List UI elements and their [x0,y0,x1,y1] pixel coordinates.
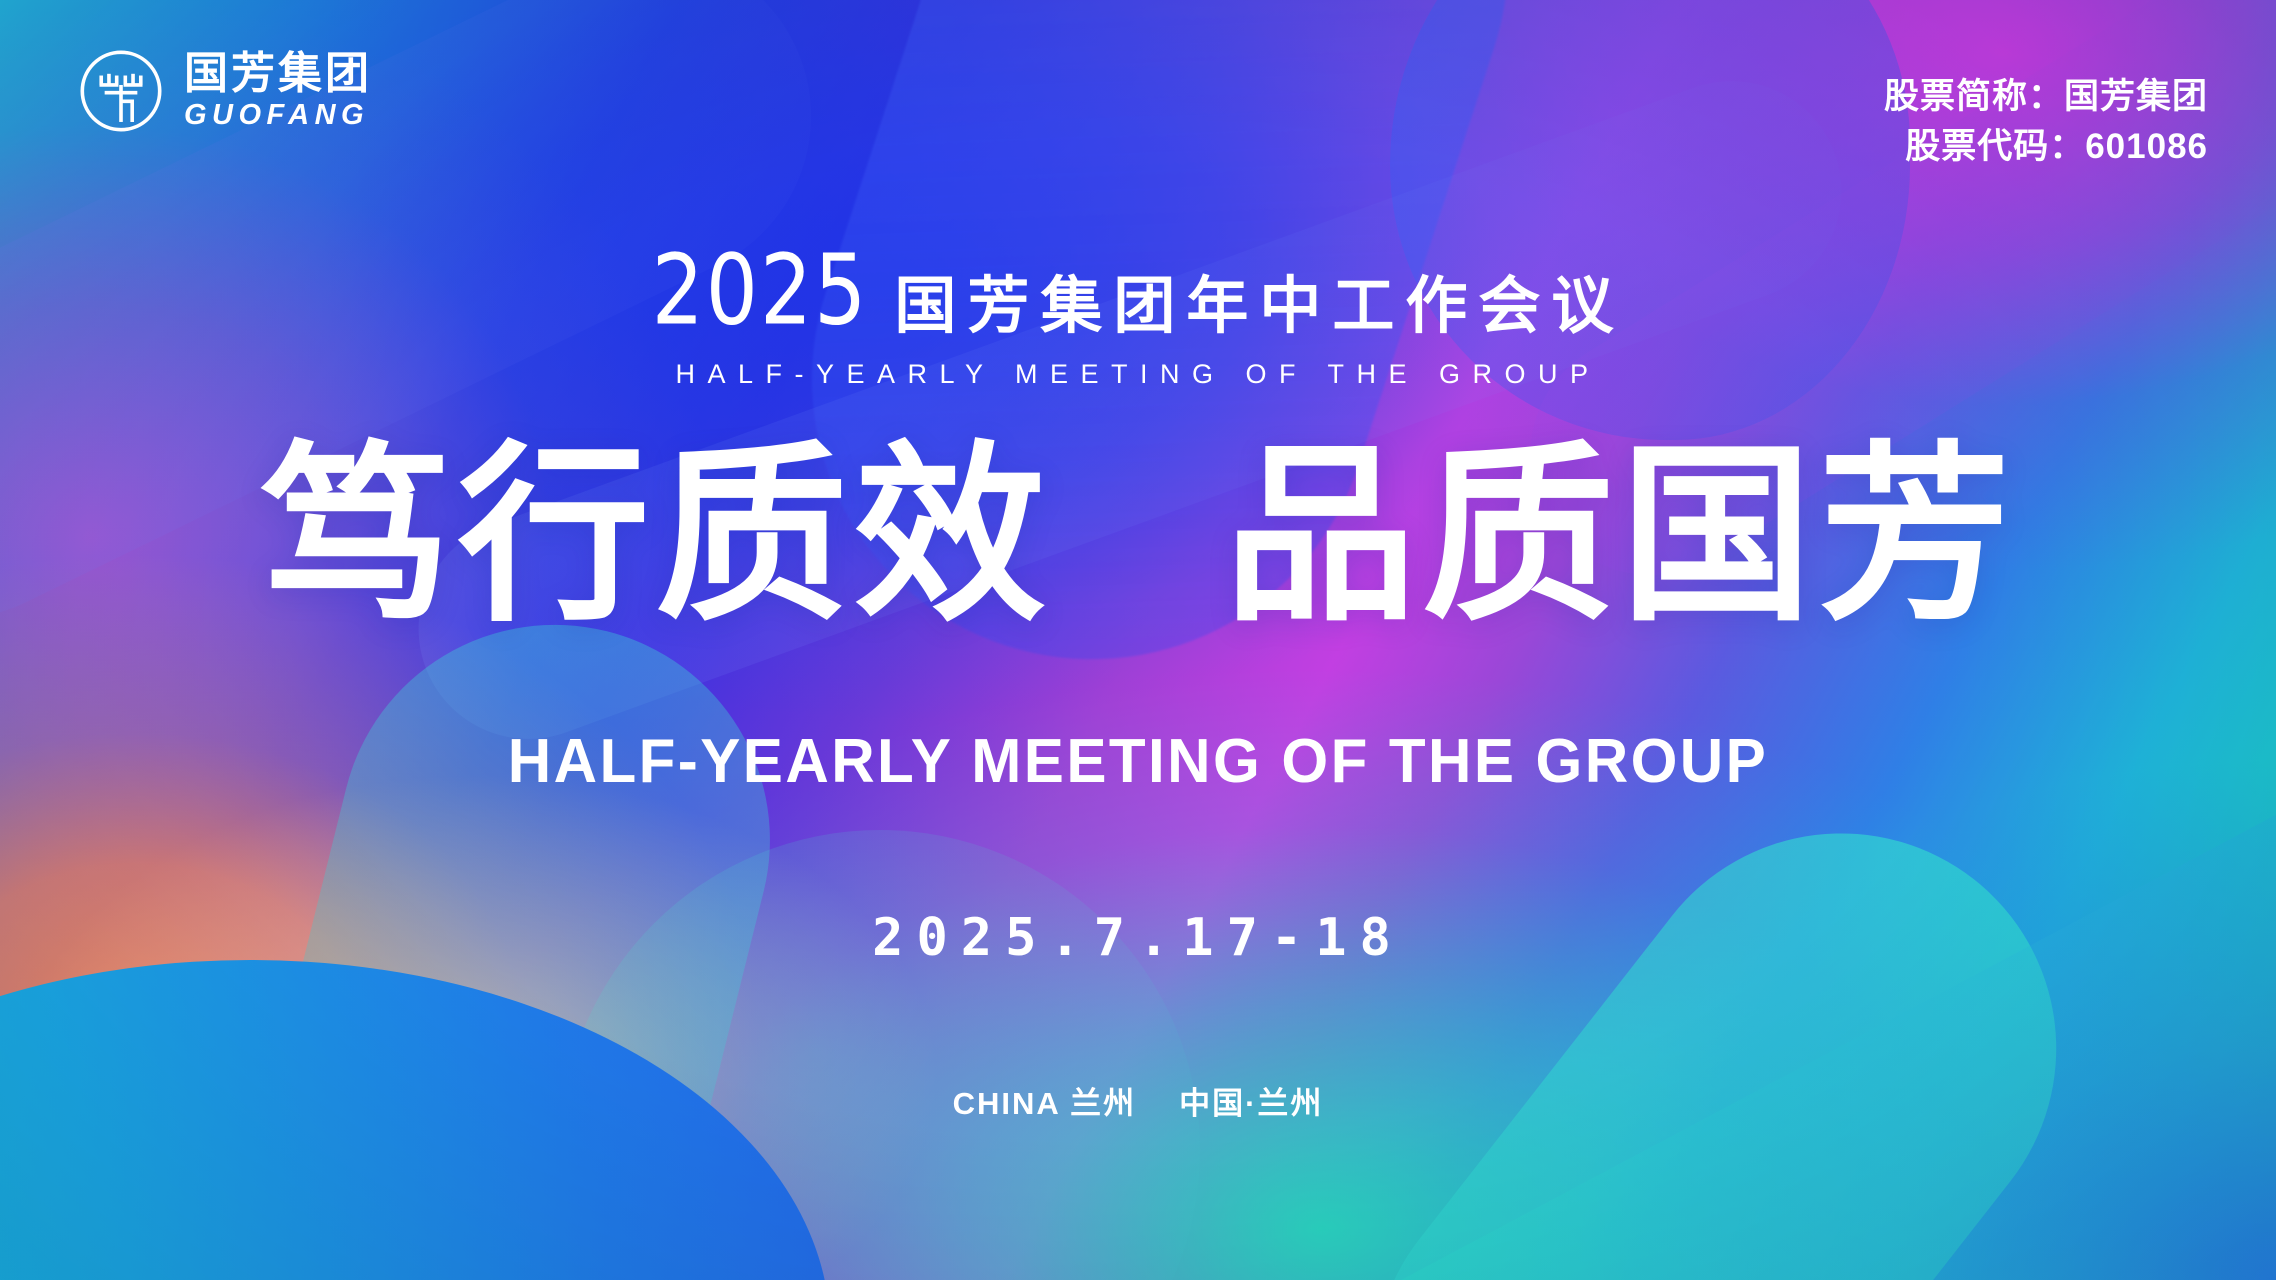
event-location-en: CHINA 兰州 [953,1086,1137,1121]
event-title-row: 2025 国芳集团年中工作会议 [652,252,1625,347]
event-year: 2025 [652,235,869,347]
stock-info-block: 股票简称：国芳集团 股票代码：601086 [1884,72,2208,171]
brand-name-en: GUOFANG [184,101,372,130]
guofang-circle-emblem-icon [78,48,164,134]
event-title-cn: 国芳集团年中工作会议 [894,255,1624,345]
event-location-cn: 中国·兰州 [1179,1086,1323,1121]
slogan-cn-part2: 品质国芳 [1224,428,2016,643]
brand-wordmark: 国芳集团 GUOFANG [184,52,372,130]
event-location: CHINA 兰州 中国·兰州 [0,1078,2276,1123]
event-title-block: 2025 国芳集团年中工作会议 HALF-YEARLY MEETING OF T… [0,252,2276,390]
banner-content: 国芳集团 GUOFANG 股票简称：国芳集团 股票代码：601086 2025 … [0,0,2276,1280]
slogan-cn-part1: 笃行质效 [260,428,1052,643]
conference-banner: 国芳集团 GUOFANG 股票简称：国芳集团 股票代码：601086 2025 … [0,0,2276,1280]
brand-name-cn: 国芳集团 [184,52,372,96]
slogan-cn: 笃行质效 品质国芳 [0,440,2276,632]
event-date: 2025.7.17-18 [0,908,2276,968]
stock-code-line: 股票代码：601086 [1884,122,2208,172]
stock-name-line: 股票简称：国芳集团 [1884,72,2208,122]
slogan-en: HALF-YEARLY MEETING OF THE GROUP [34,726,2242,797]
event-title-en: HALF-YEARLY MEETING OF THE GROUP [0,359,2276,390]
brand-logo-lockup: 国芳集团 GUOFANG [78,48,372,134]
